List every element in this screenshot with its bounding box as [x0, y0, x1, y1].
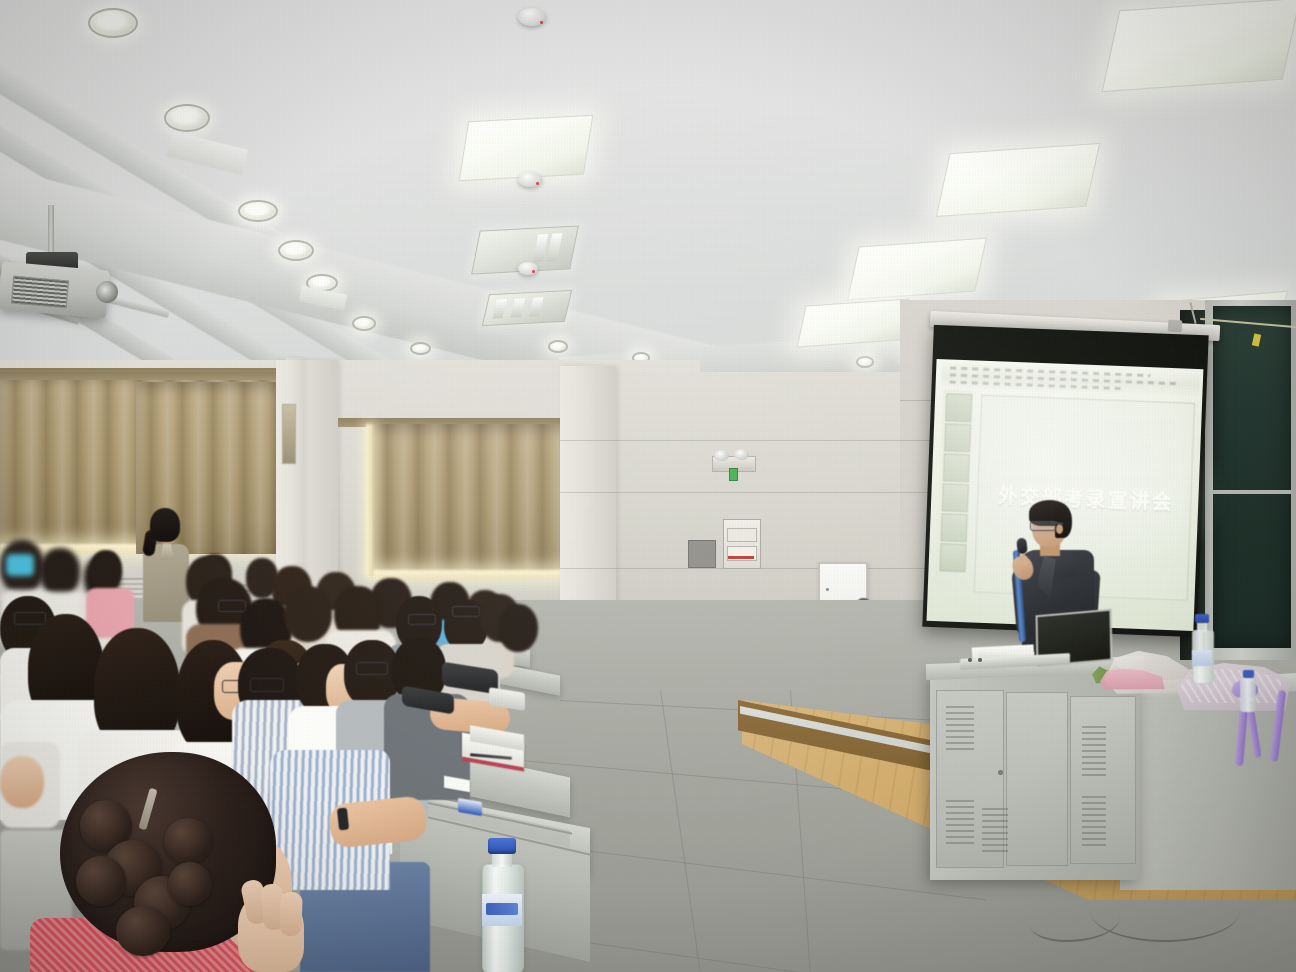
whiteboard-mark — [826, 588, 829, 591]
projector-mount-pole — [48, 205, 54, 257]
wristwatch — [337, 808, 349, 831]
slide-thumbnail[interactable] — [941, 513, 968, 542]
wall-access-plate — [688, 540, 716, 568]
bottle-label — [1192, 650, 1212, 666]
laptop-port — [968, 658, 972, 662]
downlight-icon — [410, 342, 431, 355]
downlight-icon — [164, 104, 210, 132]
bottle-cap — [488, 838, 516, 854]
wall-pilaster — [560, 366, 616, 606]
fire-alarm-box — [723, 519, 761, 569]
panel-light — [797, 298, 910, 347]
fire-alarm-label — [727, 528, 757, 542]
side-counter — [1120, 690, 1296, 890]
curtain-rail — [0, 372, 290, 380]
downlight-icon — [238, 200, 278, 222]
panel-light — [1102, 0, 1296, 92]
speaker-ear — [1056, 524, 1063, 534]
smoke-detector-icon — [518, 172, 542, 187]
smoke-detector-icon — [518, 262, 538, 275]
glasses-icon — [452, 606, 480, 617]
glasses-icon — [356, 662, 388, 675]
audience-head — [498, 604, 538, 652]
wall-panel — [282, 404, 296, 464]
projector-vent — [11, 276, 69, 309]
bottle-cap — [1243, 670, 1254, 678]
audience-phone — [6, 554, 34, 576]
audience-head — [90, 550, 122, 590]
laptop-port — [978, 658, 982, 662]
blackboard-divider — [1213, 490, 1291, 494]
fire-alarm-red-stripe — [728, 556, 754, 559]
powerpoint-ribbon — [942, 362, 1201, 396]
glasses-icon — [14, 612, 46, 625]
wall-seam — [560, 568, 980, 569]
window-curtain — [372, 424, 572, 576]
panel-light — [847, 238, 987, 301]
emergency-lamp-icon — [714, 450, 729, 461]
downlight-icon — [278, 240, 314, 261]
downlight-icon — [548, 340, 568, 353]
hair-braid — [76, 856, 126, 906]
podium — [930, 668, 1140, 880]
glasses-icon — [250, 678, 284, 692]
hair-braid — [168, 862, 212, 906]
microphone-icon[interactable] — [1016, 538, 1028, 555]
bottle-cap — [1195, 614, 1209, 623]
smoke-detector-icon — [518, 8, 546, 26]
slide-thumbnail[interactable] — [939, 543, 966, 572]
window-light-edge — [366, 424, 373, 576]
hair-braid — [164, 818, 212, 864]
slide-thumbnail[interactable] — [944, 423, 971, 452]
glasses-icon — [218, 600, 246, 612]
blackboard-surface — [1213, 306, 1291, 648]
downlight-icon — [352, 316, 376, 331]
podium-lock-icon[interactable] — [998, 770, 1003, 775]
bottle-neck — [1197, 622, 1207, 632]
blackboard — [1205, 300, 1296, 660]
slide-thumbnail-panel[interactable] — [936, 389, 974, 588]
audience-head — [40, 548, 80, 596]
panel-light — [936, 143, 1100, 217]
lecture-hall-photo: 外交部考录宣讲会 · · · · · · · · · · · · · · · · — [0, 0, 1296, 972]
window-light-strip — [372, 570, 570, 578]
water-bottle — [1240, 678, 1256, 712]
slide-thumbnail[interactable] — [945, 393, 972, 422]
downlight-icon — [88, 8, 138, 38]
podium-door[interactable] — [1006, 692, 1068, 866]
panel-light-louver — [482, 290, 573, 326]
slide-thumbnail[interactable] — [942, 483, 969, 512]
downlight-icon — [856, 356, 874, 368]
wall-seam — [560, 440, 980, 441]
audience-hand — [0, 756, 44, 808]
hair-braid — [116, 906, 170, 956]
wall-seam — [560, 492, 980, 493]
finger — [279, 892, 303, 937]
emergency-lamp-icon — [734, 449, 749, 460]
bottle-label-text — [486, 903, 518, 915]
glasses-icon — [408, 614, 436, 625]
emergency-light-indicator — [729, 468, 738, 481]
panel-light — [459, 115, 594, 181]
standing-person-hair — [150, 508, 180, 542]
projection-screen-roller-cap — [1168, 320, 1183, 333]
slide-thumbnail[interactable] — [943, 453, 970, 482]
audience-head — [284, 586, 332, 642]
